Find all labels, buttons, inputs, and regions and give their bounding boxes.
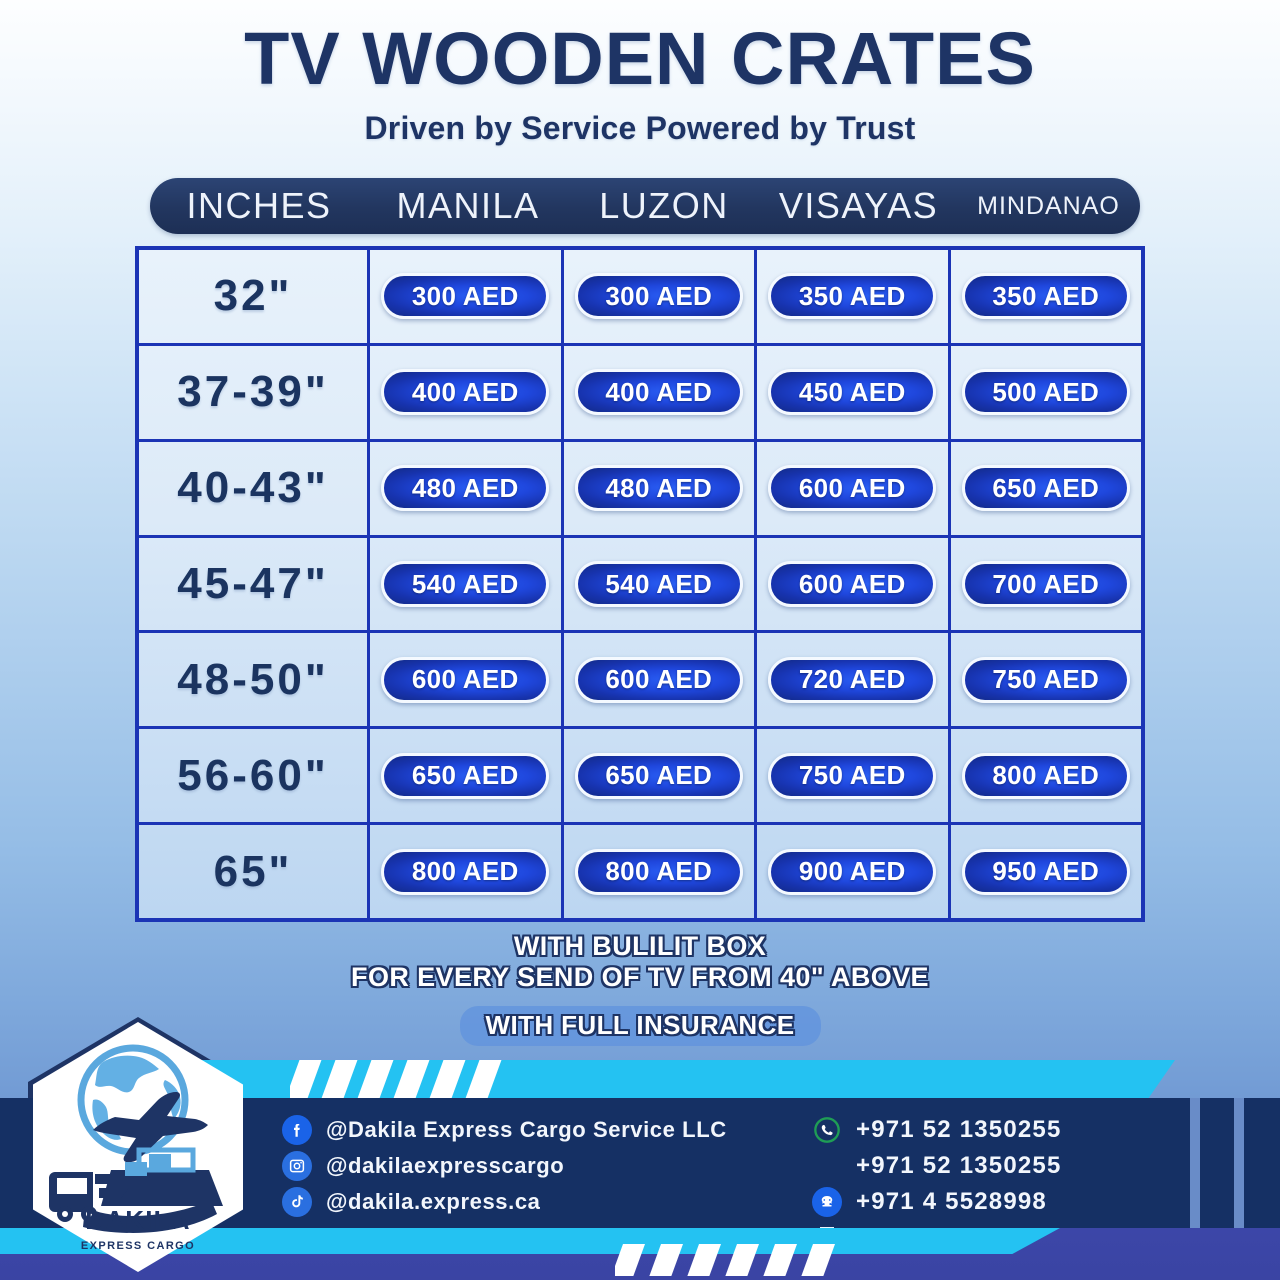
price-value: 400 AED <box>605 377 712 408</box>
cell-manila: 300 AED <box>370 250 564 343</box>
price-pill: 400 AED <box>381 369 549 415</box>
price-value: 650 AED <box>605 760 712 791</box>
price-value: 500 AED <box>992 377 1099 408</box>
size-label: 32" <box>214 271 293 321</box>
title-block: TV WOODEN CRATES Driven by Service Power… <box>0 0 1280 147</box>
price-pill: 950 AED <box>962 849 1130 895</box>
price-value: 450 AED <box>799 377 906 408</box>
price-pill: 800 AED <box>381 849 549 895</box>
price-value: 600 AED <box>605 664 712 695</box>
table-row: 37-39" 400 AED 400 AED 450 AED 500 AED <box>139 346 1141 442</box>
cell-mindanao: 950 AED <box>951 825 1142 918</box>
page-tagline: Driven by Service Powered by Trust <box>0 110 1280 147</box>
price-value: 720 AED <box>799 664 906 695</box>
table-header-bar: INCHES MANILA LUZON VISAYAS MINDANAO <box>150 178 1140 234</box>
cell-mindanao: 350 AED <box>951 250 1142 343</box>
price-value: 540 AED <box>605 569 712 600</box>
cell-visayas: 720 AED <box>757 633 951 726</box>
price-value: 700 AED <box>992 569 1099 600</box>
cell-size: 56-60" <box>139 729 370 822</box>
slash-decoration-bottom <box>615 1244 905 1276</box>
price-pill: 350 AED <box>768 273 936 319</box>
contact-row-phone[interactable]: +971 4 5528998 <box>812 1184 1200 1220</box>
cell-luzon: 400 AED <box>564 346 758 439</box>
price-pill: 600 AED <box>381 657 549 703</box>
price-value: 800 AED <box>992 760 1099 791</box>
price-value: 600 AED <box>799 569 906 600</box>
social-row-facebook[interactable]: @Dakila Express Cargo Service LLC <box>282 1112 727 1148</box>
price-pill: 750 AED <box>962 657 1130 703</box>
cell-luzon: 300 AED <box>564 250 758 343</box>
logo-subtitle: EXPRESS CARGO <box>33 1240 243 1252</box>
table-row: 45-47" 540 AED 540 AED 600 AED 700 AED <box>139 538 1141 634</box>
price-value: 900 AED <box>799 856 906 887</box>
cell-manila: 540 AED <box>370 538 564 631</box>
column-header-manila: MANILA <box>368 185 568 227</box>
whatsapp-number-alt: +971 52 1350255 <box>856 1152 1062 1180</box>
instagram-icon <box>282 1151 312 1181</box>
logo-name: DAKILA <box>33 1205 243 1236</box>
table-row: 40-43" 480 AED 480 AED 600 AED 650 AED <box>139 442 1141 538</box>
note-send-condition: FOR EVERY SEND OF TV FROM 40" ABOVE <box>0 963 1280 992</box>
cell-visayas: 900 AED <box>757 825 951 918</box>
social-row-tiktok[interactable]: @dakila.express.ca <box>282 1184 727 1220</box>
price-value: 950 AED <box>992 856 1099 887</box>
cell-manila: 650 AED <box>370 729 564 822</box>
whatsapp-number: +971 52 1350255 <box>856 1116 1062 1144</box>
price-pill: 400 AED <box>575 369 743 415</box>
instagram-handle: @dakilaexpresscargo <box>326 1153 564 1179</box>
price-pill: 900 AED <box>768 849 936 895</box>
price-value: 600 AED <box>412 664 519 695</box>
price-pill: 750 AED <box>768 753 936 799</box>
price-pill: 650 AED <box>575 753 743 799</box>
cell-size: 32" <box>139 250 370 343</box>
cell-visayas: 750 AED <box>757 729 951 822</box>
company-logo: DAKILA EXPRESS CARGO <box>33 1022 243 1272</box>
price-pill: 600 AED <box>768 465 936 511</box>
cell-size: 48-50" <box>139 633 370 726</box>
size-label: 56-60" <box>177 751 328 801</box>
note-bulilit-box: WITH BULILIT BOX <box>0 932 1280 961</box>
price-value: 480 AED <box>605 473 712 504</box>
price-pill: 480 AED <box>575 465 743 511</box>
price-value: 800 AED <box>605 856 712 887</box>
cell-mindanao: 750 AED <box>951 633 1142 726</box>
cell-manila: 600 AED <box>370 633 564 726</box>
size-label: 45-47" <box>177 559 328 609</box>
price-pill: 700 AED <box>962 561 1130 607</box>
tiktok-handle: @dakila.express.ca <box>326 1189 541 1215</box>
price-pill: 540 AED <box>575 561 743 607</box>
price-pill: 450 AED <box>768 369 936 415</box>
cell-size: 45-47" <box>139 538 370 631</box>
cell-luzon: 480 AED <box>564 442 758 535</box>
contact-row-whatsapp-alt[interactable]: +971 52 1350255 <box>812 1148 1200 1184</box>
cell-mindanao: 650 AED <box>951 442 1142 535</box>
table-row: 48-50" 600 AED 600 AED 720 AED 750 AED <box>139 633 1141 729</box>
size-label: 65" <box>214 847 293 897</box>
price-value: 750 AED <box>799 760 906 791</box>
slash-decoration-top <box>290 1060 650 1098</box>
size-label: 37-39" <box>177 367 328 417</box>
column-header-luzon: LUZON <box>568 185 760 227</box>
column-header-mindanao: MINDANAO <box>957 192 1140 221</box>
cell-luzon: 650 AED <box>564 729 758 822</box>
cell-luzon: 600 AED <box>564 633 758 726</box>
page-title: TV WOODEN CRATES <box>0 22 1280 96</box>
facebook-handle: @Dakila Express Cargo Service LLC <box>326 1117 727 1143</box>
price-pill: 650 AED <box>381 753 549 799</box>
price-value: 350 AED <box>992 281 1099 312</box>
cell-luzon: 800 AED <box>564 825 758 918</box>
social-row-instagram[interactable]: @dakilaexpresscargo <box>282 1148 727 1184</box>
price-value: 540 AED <box>412 569 519 600</box>
cell-visayas: 600 AED <box>757 442 951 535</box>
price-value: 750 AED <box>992 664 1099 695</box>
price-pill: 540 AED <box>381 561 549 607</box>
cell-mindanao: 700 AED <box>951 538 1142 631</box>
price-pill: 500 AED <box>962 369 1130 415</box>
price-value: 600 AED <box>799 473 906 504</box>
size-label: 48-50" <box>177 655 328 705</box>
cell-visayas: 600 AED <box>757 538 951 631</box>
column-header-visayas: VISAYAS <box>760 185 957 227</box>
price-table: 32" 300 AED 300 AED 350 AED 350 AED 37-3… <box>135 246 1145 922</box>
cell-mindanao: 500 AED <box>951 346 1142 439</box>
cell-size: 40-43" <box>139 442 370 535</box>
table-row: 56-60" 650 AED 650 AED 750 AED 800 AED <box>139 729 1141 825</box>
price-pill: 300 AED <box>381 273 549 319</box>
price-value: 300 AED <box>412 281 519 312</box>
table-row: 32" 300 AED 300 AED 350 AED 350 AED <box>139 250 1141 346</box>
price-pill: 720 AED <box>768 657 936 703</box>
price-pill: 800 AED <box>962 753 1130 799</box>
table-row: 65" 800 AED 800 AED 900 AED 950 AED <box>139 825 1141 918</box>
phone-icon <box>812 1187 842 1217</box>
price-value: 650 AED <box>412 760 519 791</box>
price-value: 350 AED <box>799 281 906 312</box>
social-links: @Dakila Express Cargo Service LLC @dakil… <box>282 1112 727 1220</box>
price-pill: 600 AED <box>768 561 936 607</box>
cell-size: 37-39" <box>139 346 370 439</box>
price-pill: 300 AED <box>575 273 743 319</box>
facebook-icon <box>282 1115 312 1145</box>
cell-mindanao: 800 AED <box>951 729 1142 822</box>
price-value: 400 AED <box>412 377 519 408</box>
contact-row-whatsapp[interactable]: +971 52 1350255 <box>812 1112 1200 1148</box>
price-value: 480 AED <box>412 473 519 504</box>
price-value: 300 AED <box>605 281 712 312</box>
cell-manila: 800 AED <box>370 825 564 918</box>
price-value: 800 AED <box>412 856 519 887</box>
cell-size: 65" <box>139 825 370 918</box>
column-header-inches: INCHES <box>150 185 368 227</box>
cell-manila: 480 AED <box>370 442 564 535</box>
price-pill: 800 AED <box>575 849 743 895</box>
price-value: 650 AED <box>992 473 1099 504</box>
price-pill: 600 AED <box>575 657 743 703</box>
price-pill: 480 AED <box>381 465 549 511</box>
price-pill: 650 AED <box>962 465 1130 511</box>
tiktok-icon <box>282 1187 312 1217</box>
footer-panel-gap <box>1234 1098 1244 1228</box>
cell-visayas: 450 AED <box>757 346 951 439</box>
cell-luzon: 540 AED <box>564 538 758 631</box>
cell-manila: 400 AED <box>370 346 564 439</box>
whatsapp-icon <box>812 1115 842 1145</box>
cell-visayas: 350 AED <box>757 250 951 343</box>
price-pill: 350 AED <box>962 273 1130 319</box>
phone-number: +971 4 5528998 <box>856 1188 1047 1216</box>
size-label: 40-43" <box>177 463 328 513</box>
